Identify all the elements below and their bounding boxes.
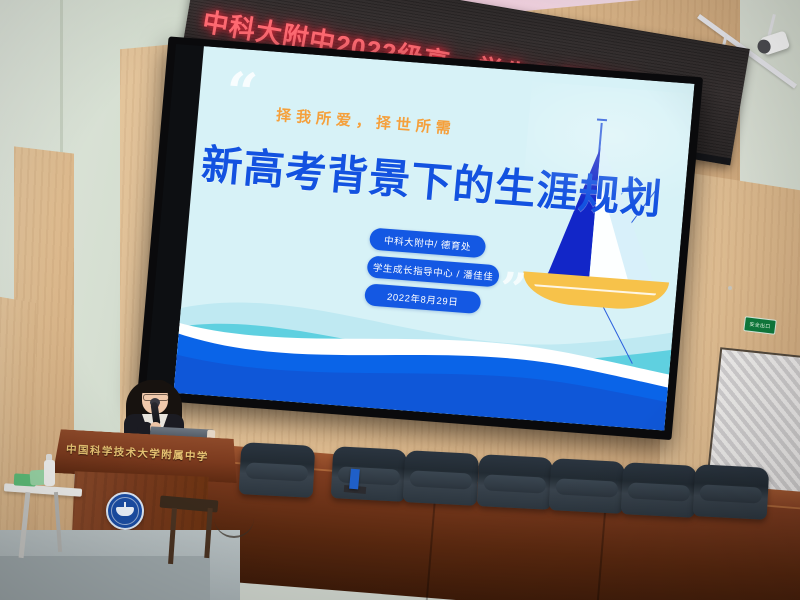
hair-fringe xyxy=(140,380,170,393)
emblem-book-icon xyxy=(116,507,134,516)
stage-chair xyxy=(331,446,408,502)
quote-close-icon: ” xyxy=(498,266,528,314)
stage-chair xyxy=(403,450,480,506)
slide-pill-organization: 中科大附中/ 德育处 xyxy=(369,227,487,258)
school-emblem-icon xyxy=(106,492,144,530)
stage-chair xyxy=(621,462,698,518)
slide-subtitle: 择我所爱，择世所需 xyxy=(275,104,456,139)
hand-sanitizer-bottle xyxy=(44,460,55,486)
mast-top xyxy=(597,119,607,122)
slide-pill-presenter: 学生成长指导中心 / 潘佳佳 xyxy=(366,255,500,287)
stage-chair xyxy=(693,464,770,520)
slide-pill-date: 2022年8月29日 xyxy=(364,283,482,314)
floor-lower xyxy=(0,556,210,600)
exit-sign-label: 安全出口 xyxy=(749,321,771,331)
led-display-screen: “ ” 择我所爱，择世所需 新高考背景下的生涯规划 中科大附中/ 德育处 学生成… xyxy=(146,44,695,431)
screen-surface: “ ” 择我所爱，择世所需 新高考背景下的生涯规划 中科大附中/ 德育处 学生成… xyxy=(146,44,695,431)
presentation-slide: “ ” 择我所爱，择世所需 新高考背景下的生涯规划 中科大附中/ 德育处 学生成… xyxy=(174,46,695,430)
wall-fixture xyxy=(728,286,732,290)
stage-chair xyxy=(549,458,626,514)
auditorium-scene: 中科大附中2022级高一学生入学教育 中国科学技术大学附属中学 2022年8月2… xyxy=(0,0,800,600)
stage-chair xyxy=(239,442,316,498)
stage-chair xyxy=(477,454,554,510)
sailboat-graphic xyxy=(496,110,694,343)
name-card xyxy=(349,469,360,490)
quote-open-icon: “ xyxy=(224,64,260,120)
